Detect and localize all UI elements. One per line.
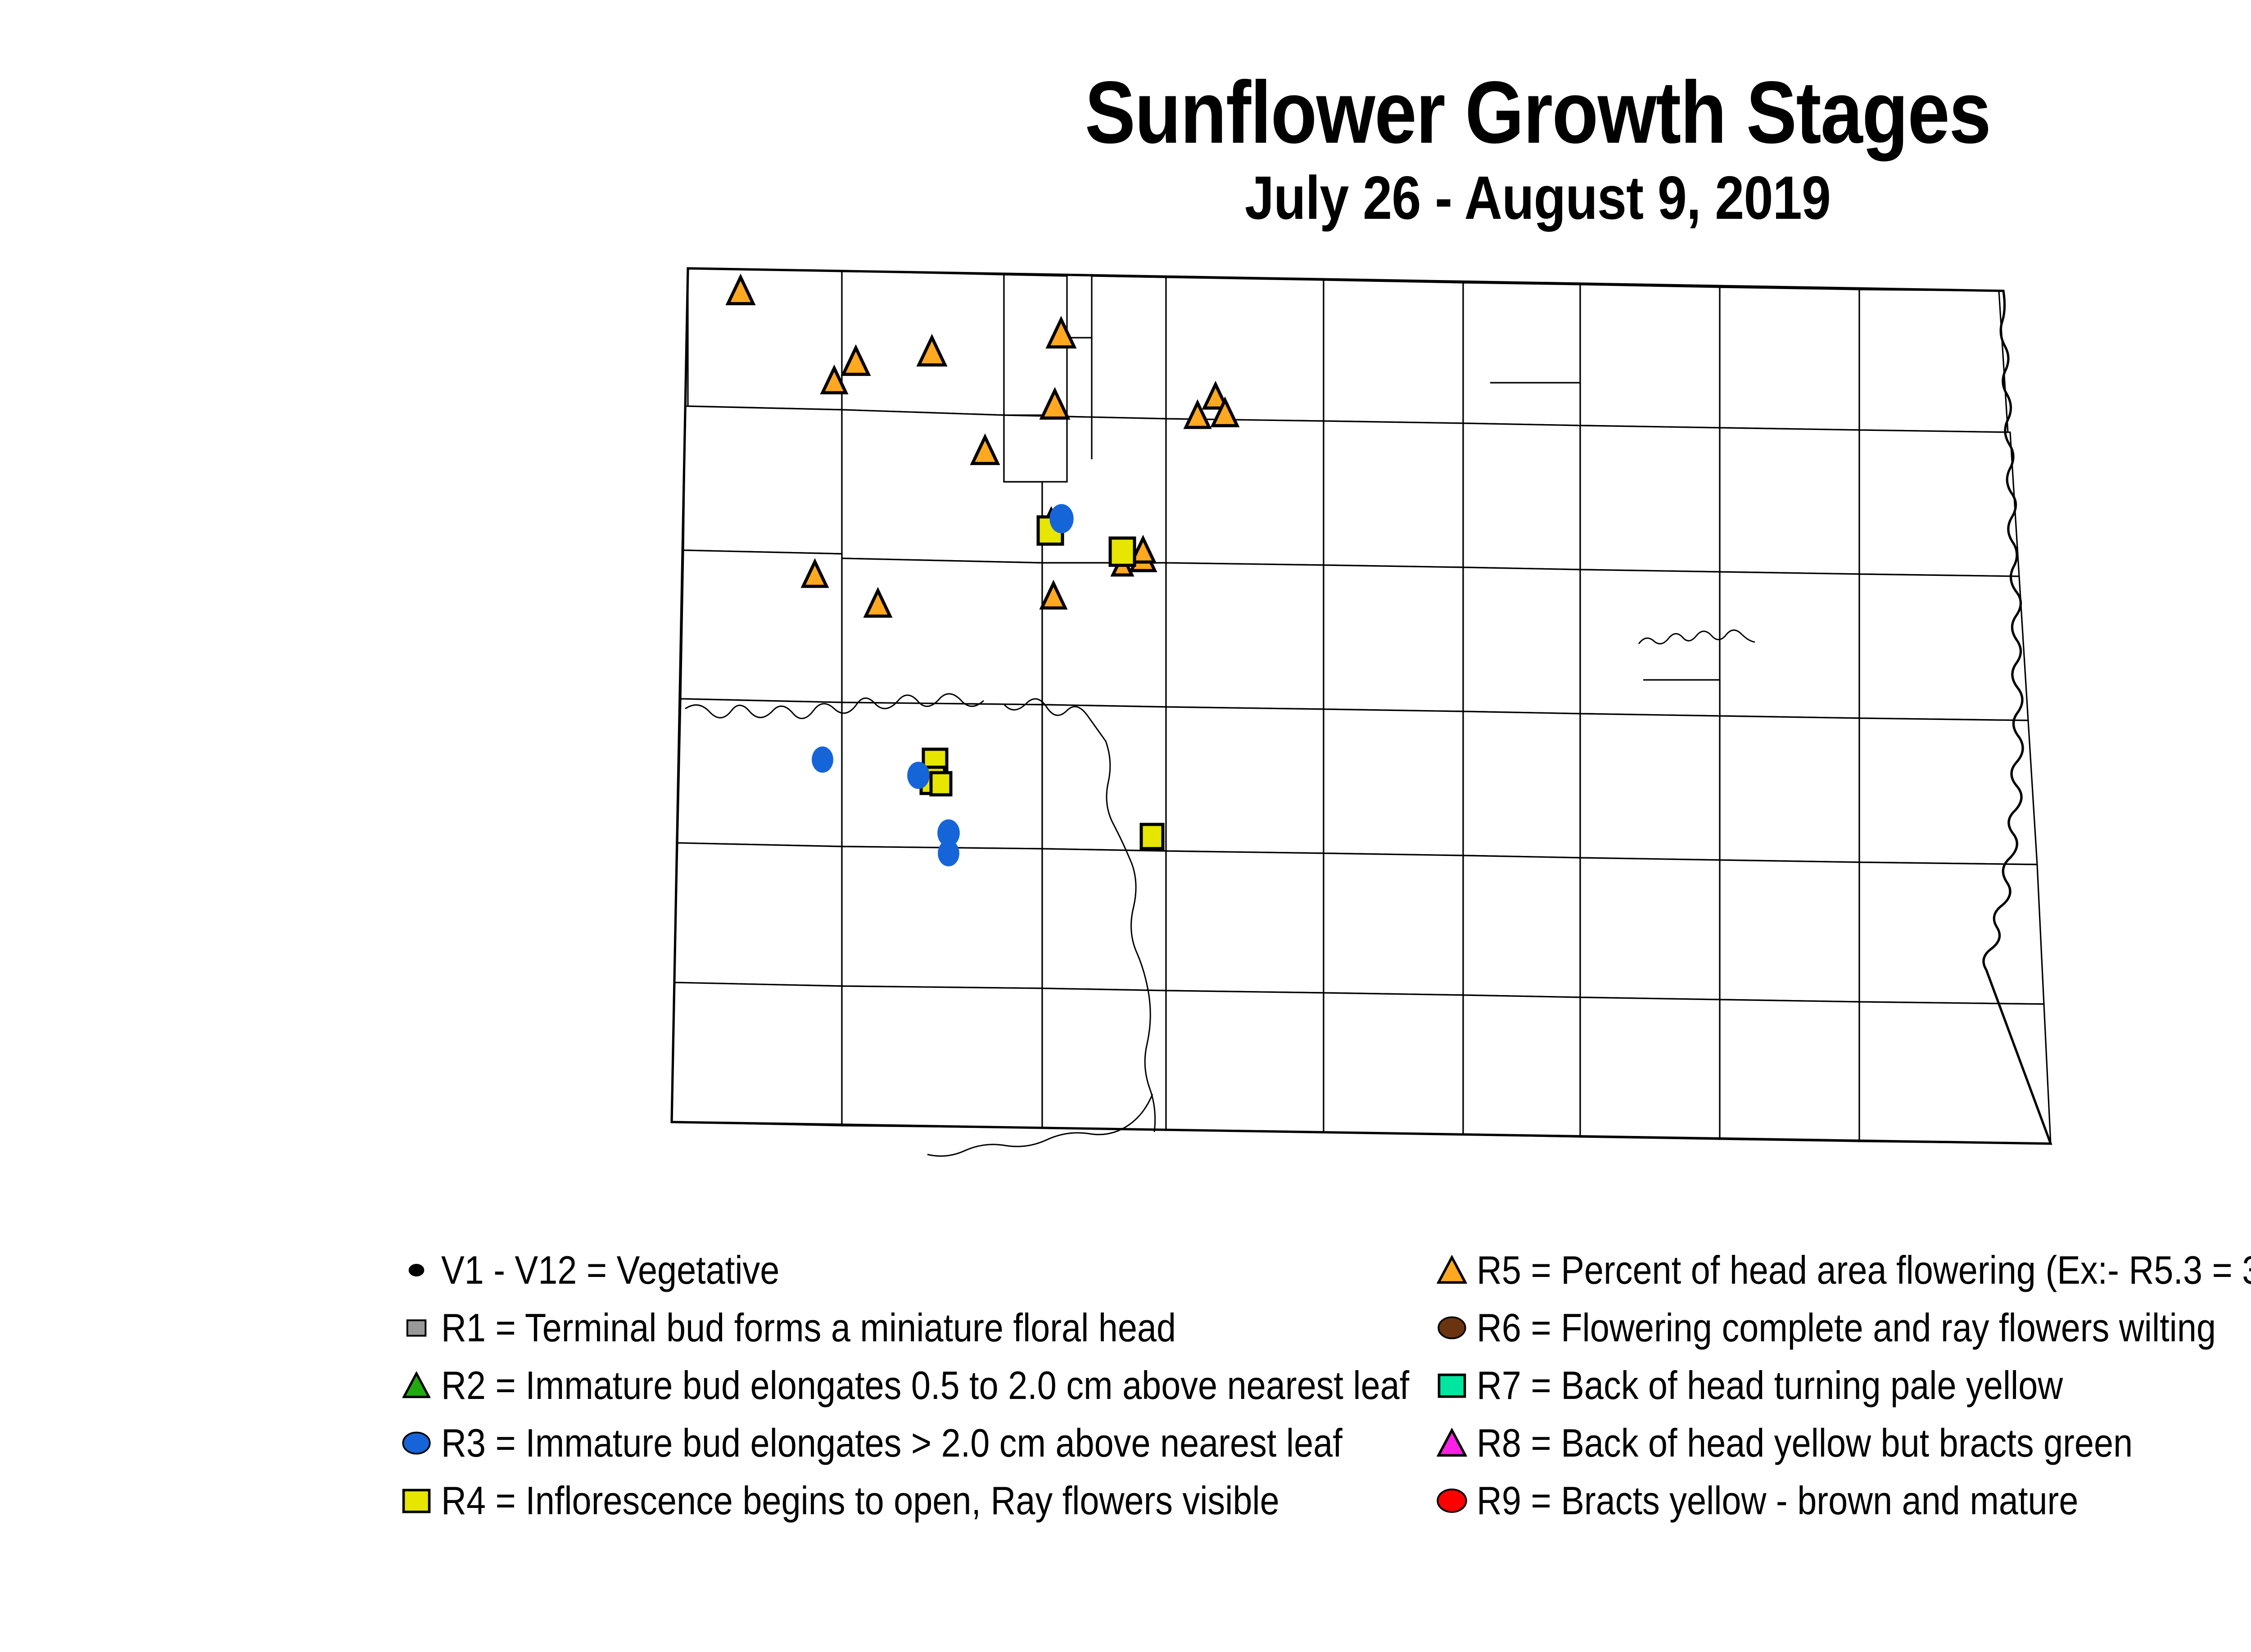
map-marker-r4[interactable] [1141,824,1163,849]
north-dakota-map[interactable] [608,248,2228,1220]
r1-symbol-icon [406,1317,427,1339]
legend-item-r6[interactable]: R6 = Flowering complete and ray flowers … [1427,1300,2251,1355]
r2-symbol-icon [402,1371,431,1400]
title-block: Sunflower Growth Stages July 26 - August… [0,68,2251,231]
legend-item-r7[interactable]: R7 = Back of head turning pale yellow [1427,1358,2143,1413]
legend: V1 - V12 = VegetativeR1 = Terminal bud f… [0,1243,2251,1585]
r4-symbol-icon [401,1485,432,1516]
legend-item-label: R1 = Terminal bud forms a miniature flor… [441,1308,1176,1348]
r5-symbol-icon [1437,1255,1467,1285]
map-marker-r3[interactable] [938,840,959,866]
legend-item-r4[interactable]: R4 = Inflorescence begins to open, Ray f… [392,1473,1394,1528]
map-marker-r4[interactable] [931,773,951,795]
legend-item-r8[interactable]: R8 = Back of head yellow but bracts gree… [1427,1416,2222,1471]
r9-symbol-icon [1436,1485,1469,1517]
r6-symbol-icon [1437,1313,1467,1343]
r3-symbol-icon [401,1428,432,1458]
legend-item-label: R8 = Back of head yellow but bracts gree… [1477,1423,2133,1463]
legend-item-label: R6 = Flowering complete and ray flowers … [1477,1308,2216,1348]
legend-item-label: R3 = Immature bud elongates > 2.0 cm abo… [441,1423,1342,1463]
legend-item-label: V1 - V12 = Vegetative [441,1250,779,1290]
legend-item-r5[interactable]: R5 = Percent of head area flowering (Ex:… [1427,1243,2251,1298]
legend-item-r9[interactable]: R9 = Bracts yellow - brown and mature [1427,1473,2161,1528]
legend-item-r1[interactable]: R1 = Terminal bud forms a miniature flor… [392,1300,1276,1355]
r7-symbol-icon [1437,1370,1467,1401]
v-symbol-icon [408,1262,425,1278]
r8-symbol-icon [1437,1428,1467,1458]
page-subtitle: July 26 - August 9, 2019 [215,164,2251,231]
map-marker-r3[interactable] [1049,504,1073,534]
legend-item-label: R9 = Bracts yellow - brown and mature [1477,1481,2078,1521]
legend-item-label: R2 = Immature bud elongates 0.5 to 2.0 c… [441,1366,1409,1405]
map-marker-r4[interactable] [1110,538,1135,565]
legend-item-v[interactable]: V1 - V12 = Vegetative [392,1243,826,1298]
legend-item-label: R5 = Percent of head area flowering (Ex:… [1477,1250,2251,1290]
legend-item-label: R7 = Back of head turning pale yellow [1477,1366,2063,1405]
legend-item-r3[interactable]: R3 = Immature bud elongates > 2.0 cm abo… [392,1416,1465,1471]
map-marker-r3[interactable] [907,762,930,789]
map-marker-r3[interactable] [812,747,833,773]
legend-item-label: R4 = Inflorescence begins to open, Ray f… [441,1481,1279,1521]
page-root: Sunflower Growth Stages July 26 - August… [0,0,2251,1652]
page-title: Sunflower Growth Stages [215,68,2251,158]
county-boundaries [672,268,2051,1156]
legend-item-r2[interactable]: R2 = Immature bud elongates 0.5 to 2.0 c… [392,1358,1541,1413]
